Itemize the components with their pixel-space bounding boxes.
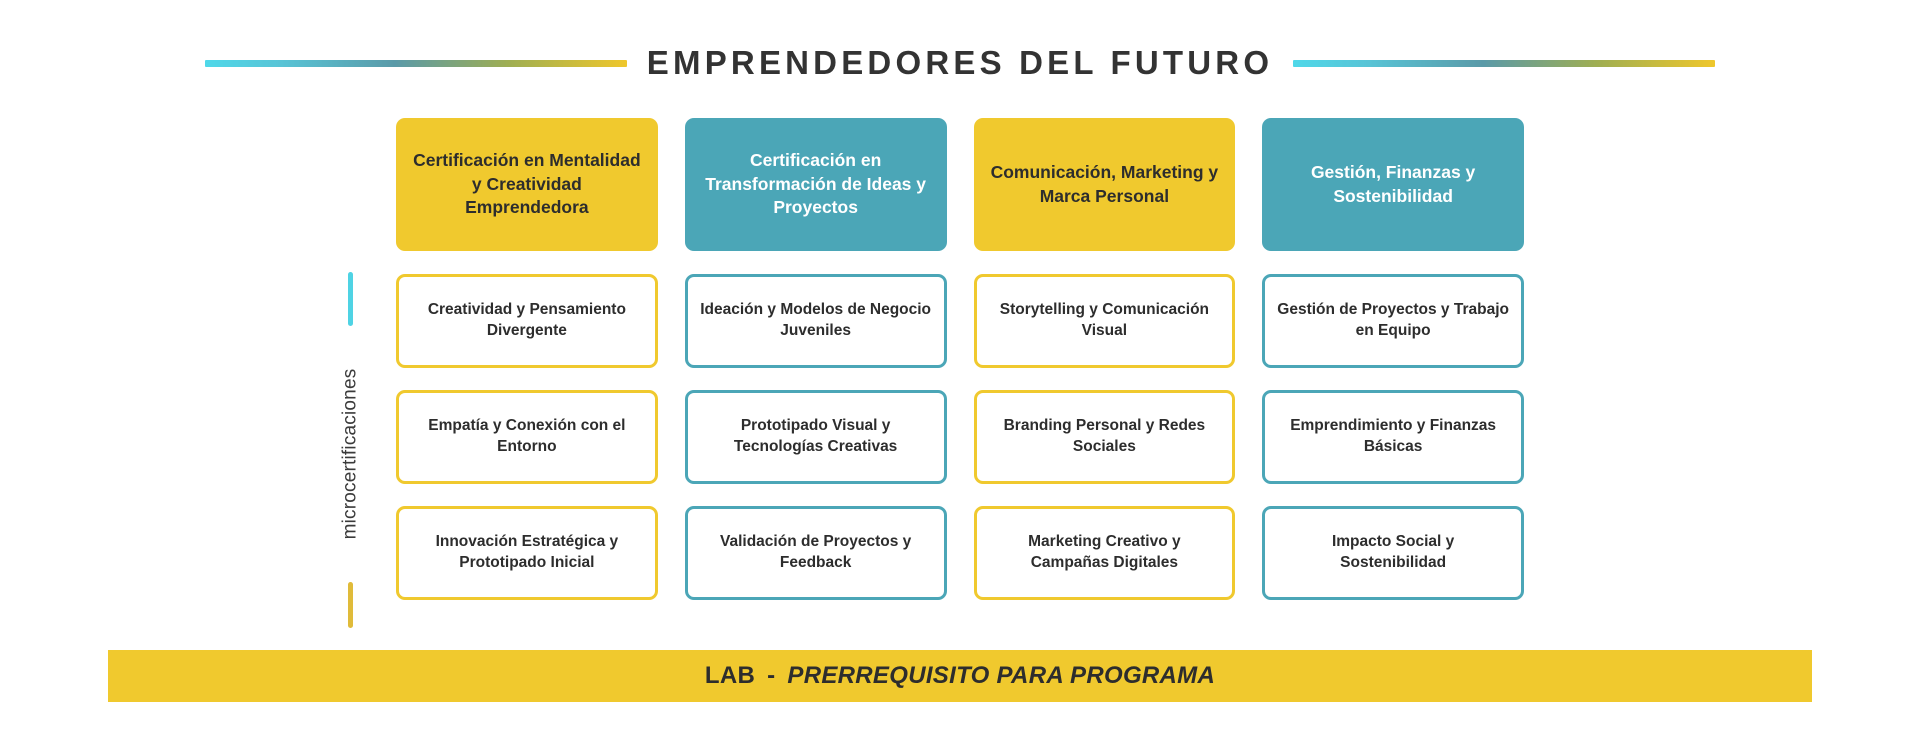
microcertification-row-1: Creatividad y Pensamiento Divergente Ide… [396,274,1524,368]
microcertification-card-c1-r3[interactable]: Innovación Estratégica y Prototipado Ini… [396,506,658,600]
microcertification-card-c3-r1[interactable]: Storytelling y Comunicación Visual [974,274,1236,368]
footer-lead-label: LAB [705,662,755,690]
microcertification-card-c1-r1[interactable]: Creatividad y Pensamiento Divergente [396,274,658,368]
microcertification-card-c3-r3[interactable]: Marketing Creativo y Campañas Digitales [974,506,1236,600]
title-rule-left [205,60,627,67]
microcertification-card-c1-r2[interactable]: Empatía y Conexión con el Entorno [396,390,658,484]
certification-header-card-2[interactable]: Certificación en Transformación de Ideas… [685,118,947,251]
microcertification-card-c4-r2[interactable]: Emprendimiento y Finanzas Básicas [1262,390,1524,484]
certification-header-card-1[interactable]: Certificación en Mentalidad y Creativida… [396,118,658,251]
title-row: EMPRENDEDORES DEL FUTURO [0,40,1920,86]
microcertification-card-c2-r1[interactable]: Ideación y Modelos de Negocio Juveniles [685,274,947,368]
infographic-page: EMPRENDEDORES DEL FUTURO microcertificac… [0,0,1920,741]
certification-header-card-3[interactable]: Comunicación, Marketing y Marca Personal [974,118,1236,251]
microcertification-row-3: Innovación Estratégica y Prototipado Ini… [396,506,1524,600]
microcertification-card-c2-r2[interactable]: Prototipado Visual y Tecnologías Creativ… [685,390,947,484]
microcertification-row-2: Empatía y Conexión con el Entorno Protot… [396,390,1524,484]
certifications-grid: Certificación en Mentalidad y Creativida… [396,118,1524,600]
axis-tick-bottom-icon [348,582,353,628]
footer-banner: LAB - PRERREQUISITO PARA PROGRAMA [108,650,1812,702]
axis-label: microcertificaciones [339,369,361,540]
certification-header-row: Certificación en Mentalidad y Creativida… [396,118,1524,251]
microcertifications-axis: microcertificaciones [330,272,370,628]
page-title: EMPRENDEDORES DEL FUTURO [647,44,1273,82]
certification-header-card-4[interactable]: Gestión, Finanzas y Sostenibilidad [1262,118,1524,251]
microcertification-card-c4-r3[interactable]: Impacto Social y Sostenibilidad [1262,506,1524,600]
microcertification-card-c2-r3[interactable]: Validación de Proyectos y Feedback [685,506,947,600]
axis-tick-top-icon [348,272,353,326]
footer-dash: - [767,662,775,690]
microcertification-card-c4-r1[interactable]: Gestión de Proyectos y Trabajo en Equipo [1262,274,1524,368]
footer-emphasis-label: PRERREQUISITO PARA PROGRAMA [787,662,1215,690]
microcertification-card-c3-r2[interactable]: Branding Personal y Redes Sociales [974,390,1236,484]
title-rule-right [1293,60,1715,67]
